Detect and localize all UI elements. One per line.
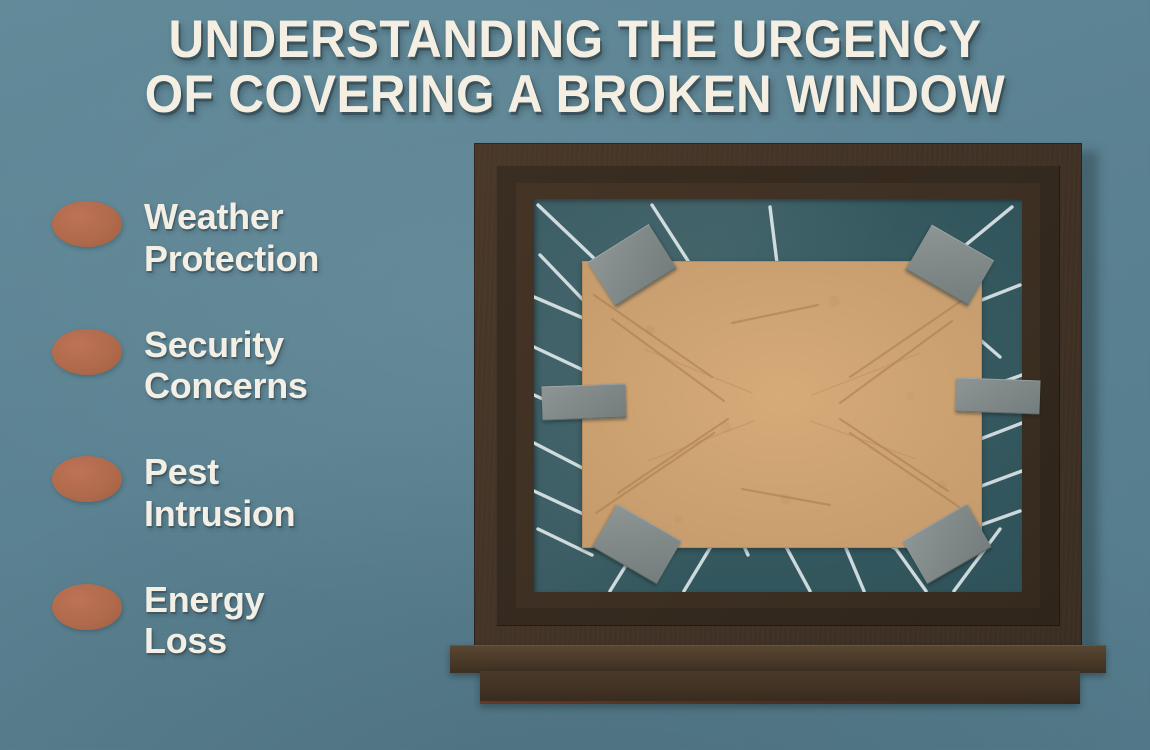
title-line-2: OF COVERING A BROKEN WINDOW [40, 67, 1110, 122]
duct-tape-strip-middle-left [541, 384, 626, 421]
list-item: Pest Intrusion [52, 451, 432, 535]
list-item-label: Pest Intrusion [144, 451, 295, 535]
benefit-list: Weather Protection Security Concerns Pes… [52, 196, 432, 706]
list-item: Weather Protection [52, 196, 432, 280]
broken-window-illustration [474, 143, 1094, 703]
list-item-label: Weather Protection [144, 196, 319, 280]
duct-tape-strip-middle-right [955, 378, 1040, 415]
bullet-dot-icon [52, 201, 122, 247]
bullet-dot-icon [52, 329, 122, 375]
list-item: Security Concerns [52, 324, 432, 408]
infographic-canvas: UNDERSTANDING THE URGENCY OF COVERING A … [0, 0, 1150, 750]
bullet-dot-icon [52, 456, 122, 502]
cardboard-cover [582, 261, 982, 548]
bullet-dot-icon [52, 584, 122, 630]
list-item: Energy Loss [52, 579, 432, 663]
list-item-label: Security Concerns [144, 324, 308, 408]
title-line-1: UNDERSTANDING THE URGENCY [40, 12, 1110, 67]
cardboard-texture [582, 261, 982, 548]
window-sill [450, 645, 1106, 673]
cardboard-crease-lines [582, 261, 982, 548]
list-item-label: Energy Loss [144, 579, 264, 663]
page-title: UNDERSTANDING THE URGENCY OF COVERING A … [0, 12, 1150, 122]
window-sill-apron [480, 671, 1080, 704]
